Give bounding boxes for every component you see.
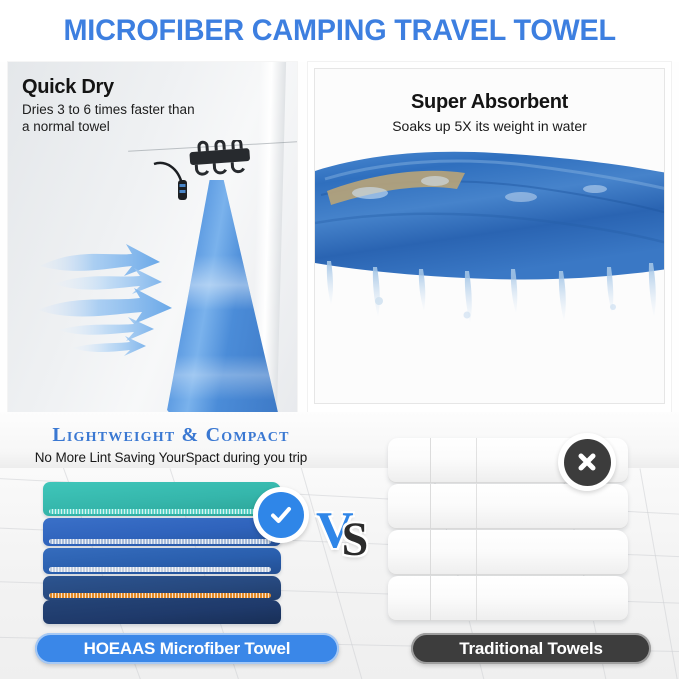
compare-text-block: Lightweight & Compact No More Lint Savin… [16, 424, 326, 465]
quick-dry-text-block: Quick Dry Dries 3 to 6 times faster than… [22, 76, 202, 136]
white-towel-4 [388, 576, 628, 621]
quick-dry-panel: Quick Dry Dries 3 to 6 times faster than… [8, 62, 297, 412]
compare-subtext: No More Lint Saving YourSpact during you… [16, 450, 326, 465]
traditional-towels-pill: Traditional Towels [411, 633, 651, 664]
page-title: MICROFIBER CAMPING TRAVEL TOWEL [63, 14, 615, 48]
carabiner-clip-icon [148, 154, 218, 214]
white-towel-2 [388, 484, 628, 529]
page-title-bar: MICROFIBER CAMPING TRAVEL TOWEL [0, 0, 679, 62]
hoeaas-pill-label: HOEAAS Microfiber Towel [84, 639, 291, 659]
super-absorbent-heading: Super Absorbent [315, 91, 664, 114]
x-circle-icon [558, 433, 616, 491]
dark-navy-towel [43, 600, 281, 624]
microfiber-towel-stack [43, 482, 281, 624]
quick-dry-heading: Quick Dry [22, 76, 202, 99]
wet-blue-towel [315, 149, 665, 339]
white-towel-3 [388, 530, 628, 575]
medium-blue-towel [43, 548, 281, 574]
teal-towel [43, 482, 281, 516]
check-circle-icon [253, 487, 309, 543]
absorbent-photo-frame: Super Absorbent Soaks up 5X its weight i… [314, 68, 665, 404]
super-absorbent-text-block: Super Absorbent Soaks up 5X its weight i… [315, 91, 664, 134]
navy-towel [43, 576, 281, 600]
product-infographic: MICROFIBER CAMPING TRAVEL TOWEL [0, 0, 679, 679]
super-absorbent-panel: Super Absorbent Soaks up 5X its weight i… [308, 62, 671, 412]
quick-dry-subtext: Dries 3 to 6 times faster than a normal … [22, 102, 202, 136]
super-absorbent-subtext: Soaks up 5X its weight in water [315, 118, 664, 134]
compare-heading: Lightweight & Compact [16, 424, 326, 447]
royal-blue-towel [43, 518, 281, 546]
versus-s: S [342, 516, 369, 564]
airflow-arrows-icon [36, 232, 196, 372]
versus-label: VS [316, 505, 368, 557]
traditional-pill-label: Traditional Towels [459, 639, 602, 659]
hoeaas-microfiber-towel-pill: HOEAAS Microfiber Towel [35, 633, 339, 664]
